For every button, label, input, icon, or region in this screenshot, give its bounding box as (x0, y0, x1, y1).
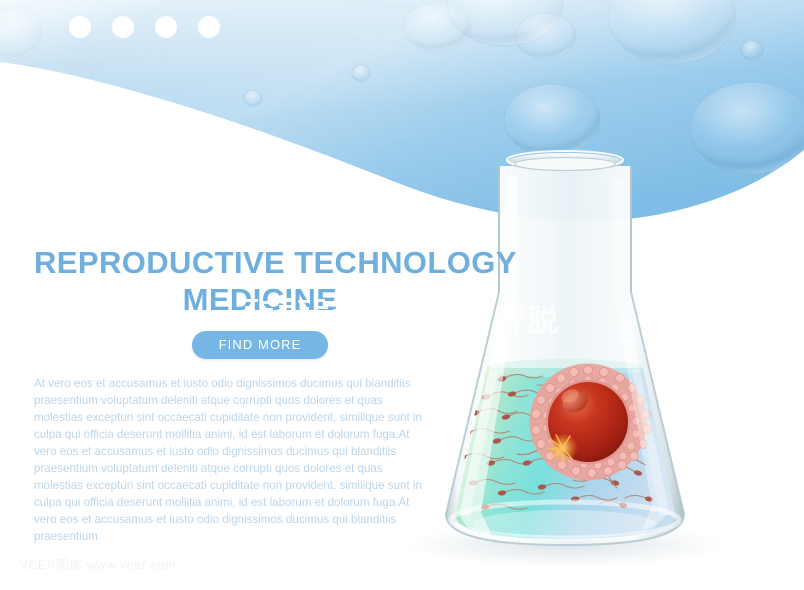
cta-wrapper: FIND MORE (34, 331, 486, 359)
droplet-icon (0, 8, 42, 60)
wave-shape (0, 0, 804, 221)
droplet-icon (244, 90, 262, 106)
liquid-surface (487, 359, 643, 377)
droplet-icon (516, 13, 576, 59)
bottom-watermark: VEER图库 www.veer.com (20, 556, 176, 573)
header-dot (198, 16, 220, 38)
corona-radiata (532, 366, 652, 478)
center-watermark: 开脱 (495, 296, 561, 340)
flask-highlight-right (613, 180, 668, 530)
page-title-line1: REPRODUCTIVE TECHNOLOGY (34, 246, 504, 279)
fertilizing-sperm (517, 436, 567, 455)
water-wave-header (0, 0, 804, 240)
copy-block: REPRODUCTIVE TECHNOLOGY MEDICINE FIND MO… (34, 246, 504, 545)
ovum-cytoplasm (548, 382, 628, 462)
droplet-icon (447, 0, 563, 46)
find-more-button[interactable]: FIND MORE (192, 331, 329, 359)
page-title-line2: MEDICINE (34, 283, 486, 316)
header-dot (112, 16, 134, 38)
droplet-icon (403, 3, 471, 51)
droplet-icon (504, 84, 600, 156)
flask-rim (507, 151, 623, 171)
ovum-cell (532, 366, 652, 478)
droplet-icon (608, 0, 736, 64)
header-dots-group (69, 16, 220, 38)
ovum-nucleus (559, 388, 591, 416)
water-droplets-group (0, 0, 804, 240)
body-paragraph: At vero eos et accusamus et iusto odio d… (34, 375, 432, 545)
droplet-icon (352, 65, 370, 81)
fertilization-burst (548, 433, 578, 463)
ovum-highlight (559, 387, 580, 405)
header-dot (69, 16, 91, 38)
reproductive-technology-banner: REPRODUCTIVE TECHNOLOGY MEDICINE FIND MO… (0, 0, 804, 590)
zona-pellucida (546, 380, 631, 465)
droplet-icon (741, 40, 763, 60)
droplet-icon (690, 82, 804, 174)
header-dot (155, 16, 177, 38)
liquid-right-sheen (632, 368, 675, 516)
